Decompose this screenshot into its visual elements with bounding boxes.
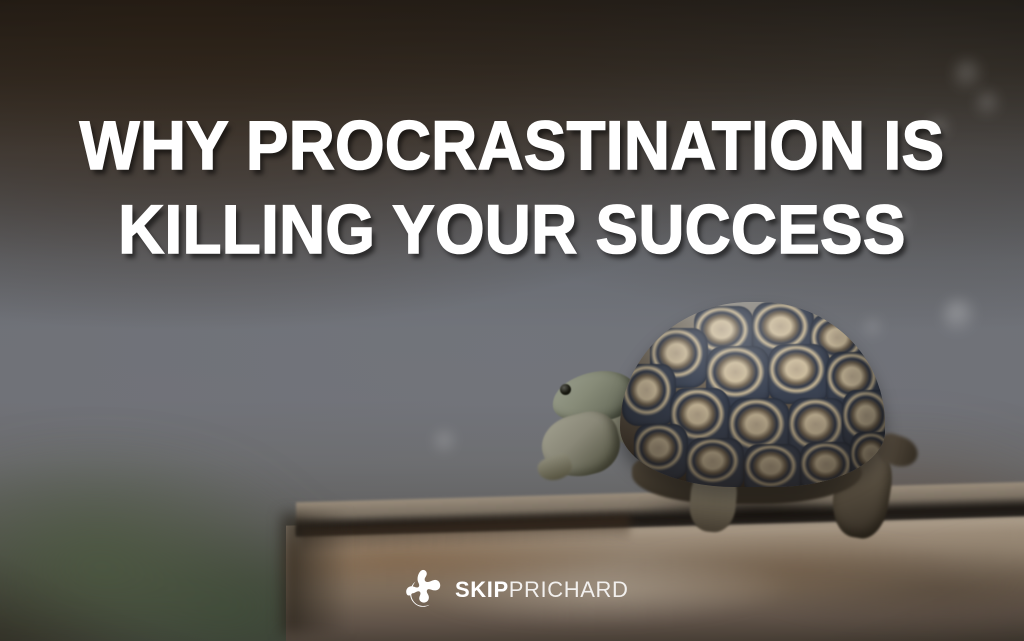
brand-name-last: PRICHARD bbox=[509, 577, 629, 602]
blog-header-banner: WHY PROCRASTINATION IS KILLING YOUR SUCC… bbox=[0, 0, 1024, 641]
headline-line-1: WHY PROCRASTINATION IS bbox=[41, 104, 983, 188]
sp-monogram-icon bbox=[402, 569, 444, 611]
brand-wordmark: SKIPPRICHARD bbox=[455, 579, 628, 601]
headline-line-2: KILLING YOUR SUCCESS bbox=[41, 188, 983, 272]
brand-logo[interactable]: SKIPPRICHARD bbox=[402, 569, 628, 611]
page-title: WHY PROCRASTINATION IS KILLING YOUR SUCC… bbox=[41, 104, 983, 272]
photo-vignette bbox=[0, 0, 1024, 641]
brand-name-first: SKIP bbox=[455, 577, 509, 602]
